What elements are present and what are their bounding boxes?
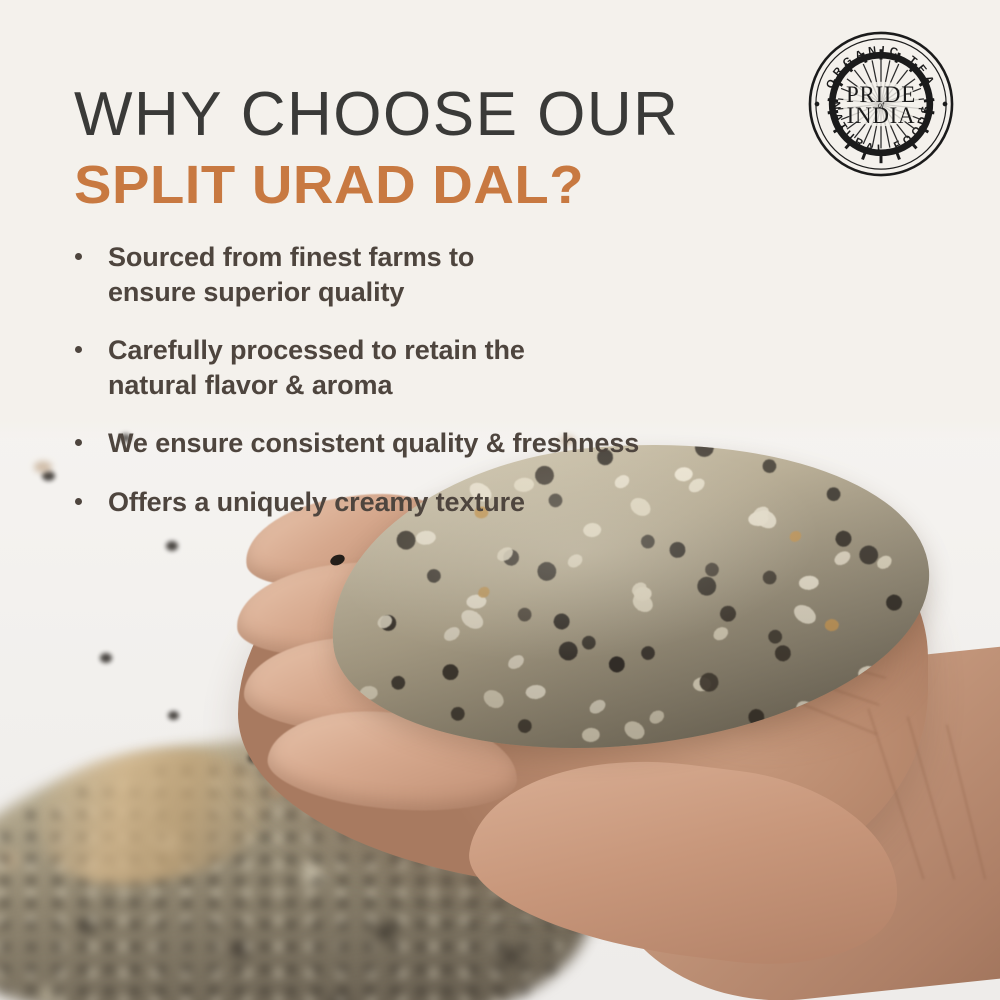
list-item: We ensure consistent quality & freshness [70, 426, 900, 461]
page-title-line-1: WHY CHOOSE OUR [74, 84, 679, 146]
benefit-text-line-1: Offers a uniquely creamy texture [108, 485, 900, 520]
bullet-dot-icon [75, 439, 82, 446]
bullet-dot-icon [75, 498, 82, 505]
benefits-list: Sourced from finest farms to ensure supe… [70, 240, 900, 519]
page-title-line-2: SPLIT URAD DAL? [74, 158, 584, 212]
benefit-text-line-1: We ensure consistent quality & freshness [108, 426, 900, 461]
product-infographic-poster: WHY CHOOSE OUR SPLIT URAD DAL? Sourced f… [0, 0, 1000, 1000]
benefit-text-line-2: natural flavor & aroma [108, 368, 900, 403]
list-item: Sourced from finest farms to ensure supe… [70, 240, 900, 309]
brand-logo: ORGANIC TEA NATURAL FOODS [807, 30, 955, 178]
benefit-text-line-1: Carefully processed to retain the [108, 333, 900, 368]
bullet-dot-icon [75, 253, 82, 260]
logo-center-line-2: INDIA [847, 103, 916, 128]
list-item: Offers a uniquely creamy texture [70, 485, 900, 520]
benefit-text-line-2: ensure superior quality [108, 275, 900, 310]
list-item: Carefully processed to retain the natura… [70, 333, 900, 402]
bullet-dot-icon [75, 346, 82, 353]
benefit-text-line-1: Sourced from finest farms to [108, 240, 900, 275]
